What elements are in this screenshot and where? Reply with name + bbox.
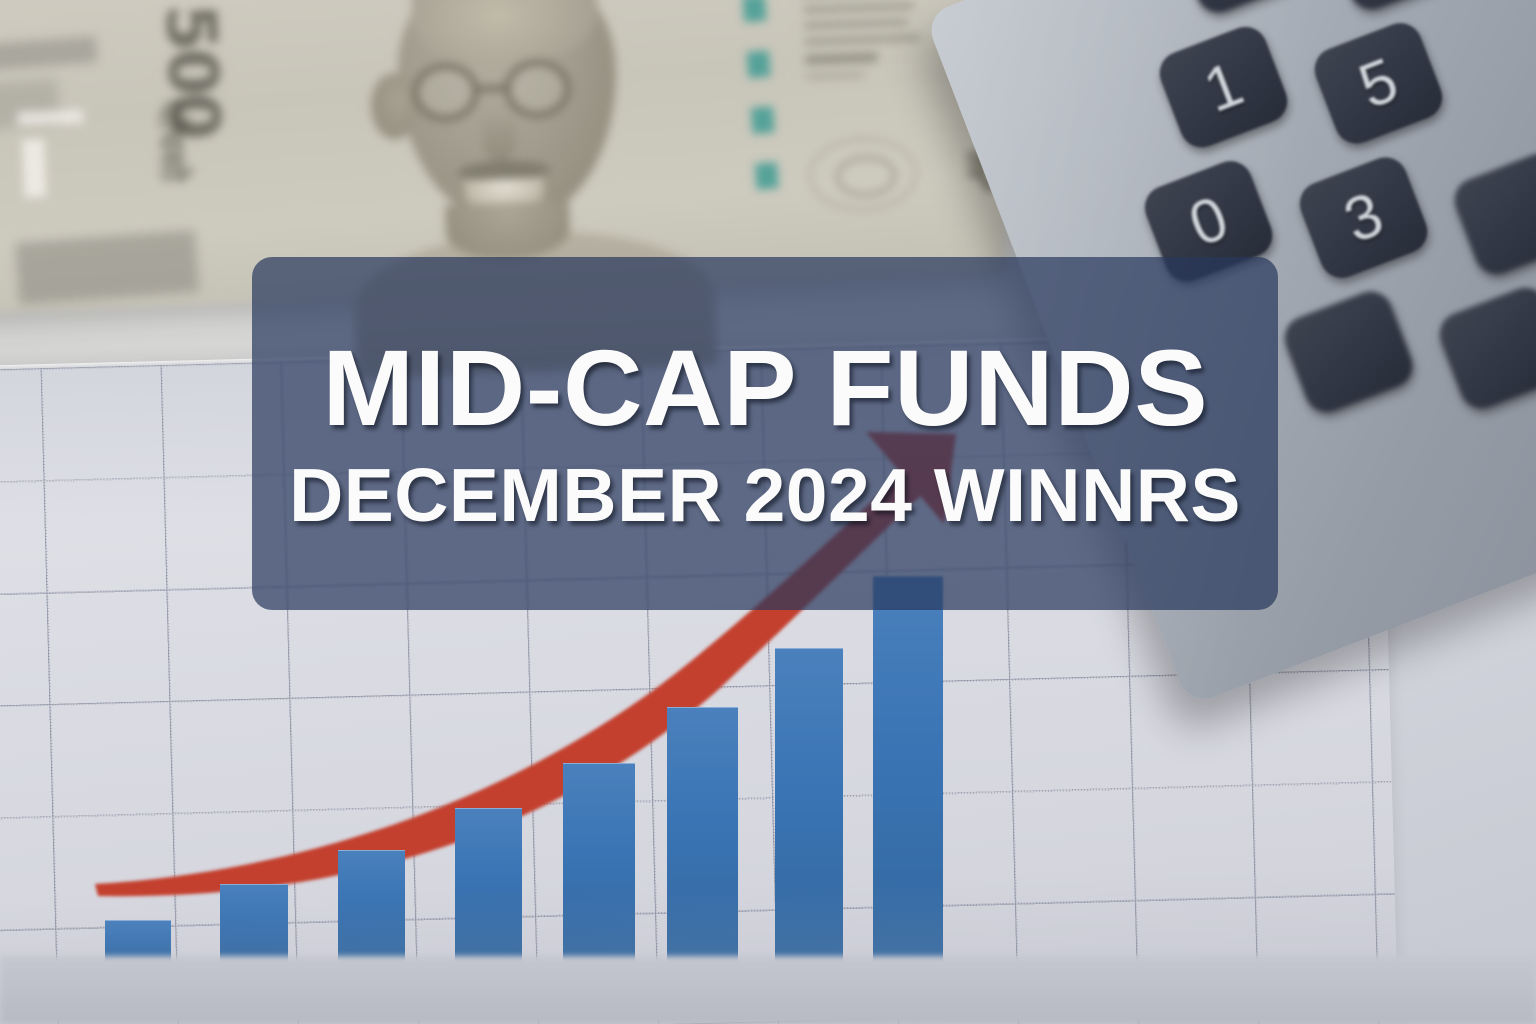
bar-7 bbox=[775, 648, 843, 965]
banknote-denomination-devanagari: पाँचसो bbox=[148, 99, 197, 182]
foreground-table-strip bbox=[0, 956, 1536, 1024]
title-overlay-card: MID-CAP FUNDS DECEMBER 2024 WINNRS bbox=[252, 257, 1278, 610]
banknote-bleed-line bbox=[17, 109, 83, 126]
page-title: MID-CAP FUNDS bbox=[322, 334, 1208, 442]
banknote-security-thread bbox=[738, 0, 779, 200]
banknote-microtext bbox=[803, 0, 928, 121]
bar-6 bbox=[667, 707, 738, 965]
poster-canvas: 500 पाँचसो ₹ bbox=[0, 0, 1536, 1024]
bar-3 bbox=[338, 850, 405, 965]
banknote-serial-block bbox=[15, 230, 199, 305]
bar-5 bbox=[563, 763, 635, 965]
page-subtitle: DECEMBER 2024 WINNRS bbox=[289, 458, 1241, 533]
bar-8 bbox=[873, 576, 943, 965]
bar-2 bbox=[220, 884, 288, 965]
banknote-seal bbox=[807, 135, 920, 213]
banknote-band bbox=[0, 36, 98, 73]
bar-4 bbox=[455, 808, 522, 965]
gandhi-glasses-bridge bbox=[476, 85, 508, 92]
banknote-bleed-line-2 bbox=[22, 139, 46, 198]
